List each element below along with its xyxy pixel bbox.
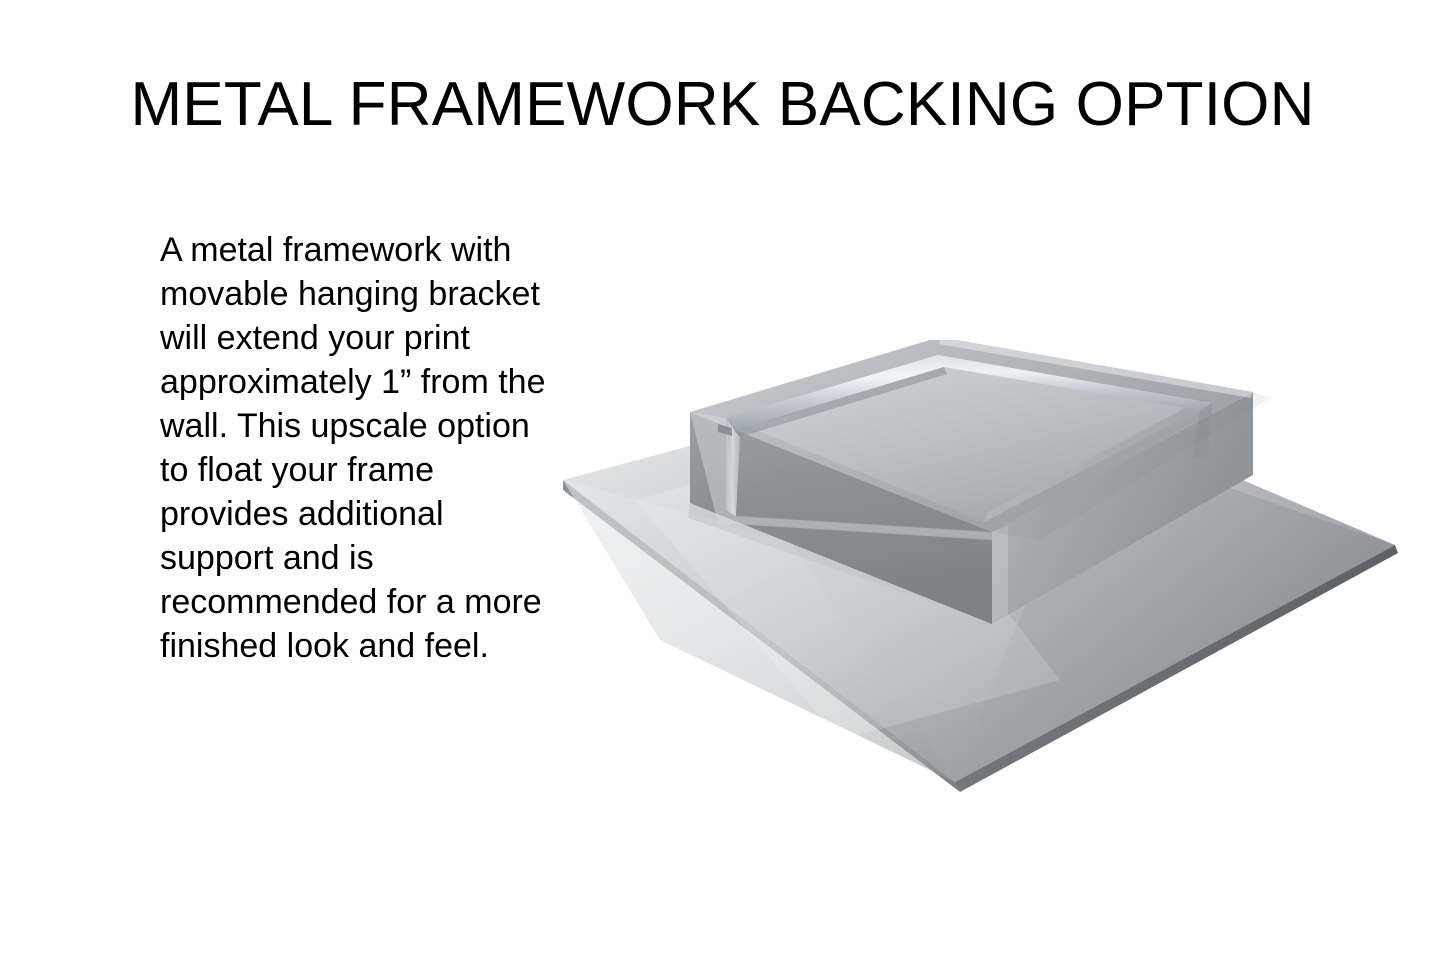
slide-canvas: METAL FRAMEWORK BACKING OPTION A metal f…: [0, 0, 1445, 963]
body-paragraph: A metal framework with movable hanging b…: [160, 228, 552, 668]
metal-framework-backing-svg: [540, 340, 1420, 820]
page-title: METAL FRAMEWORK BACKING OPTION: [0, 74, 1445, 136]
metal-framework-backing-photo: [540, 340, 1420, 820]
box-corner-bevel: [992, 526, 1008, 624]
